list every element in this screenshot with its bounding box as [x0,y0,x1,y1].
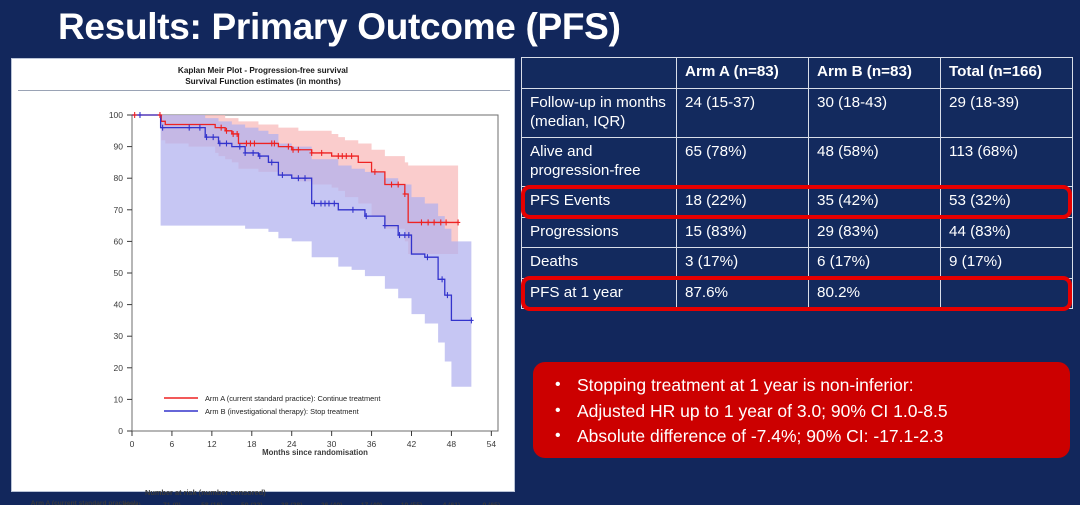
cell-0: 18 (22%) [677,187,809,218]
conclusion-callout: Stopping treatment at 1 year is non-infe… [533,362,1070,458]
y-tick-90: 90 [114,142,124,152]
y-tick-30: 30 [114,331,124,341]
y-tick-10: 10 [114,394,124,404]
cell-1: 80.2% [809,278,941,309]
x-tick-48: 48 [447,439,457,449]
y-axis-ticklabels: 0102030405060708090100 [109,110,123,436]
cell-2 [941,278,1073,309]
row-label: PFS at 1 year [522,278,677,309]
conclusion-bullet-1: Adjusted HR up to 1 year of 3.0; 90% CI … [547,399,1056,425]
y-axis [127,115,132,431]
conclusion-bullet-0: Stopping treatment at 1 year is non-infe… [547,373,1056,399]
y-tick-0: 0 [118,426,123,436]
km-plot-svg: 0102030405060708090100 06121824303642485… [12,93,516,465]
y-tick-80: 80 [114,173,124,183]
km-plot-title: Kaplan Meir Plot - Progression-free surv… [12,65,514,87]
row-label: Deaths [522,248,677,279]
table-row: Progressions15 (83%)29 (83%)44 (83%) [522,217,1073,248]
row-label: Follow-up in months (median, IQR) [522,89,677,138]
x-tick-18: 18 [247,439,257,449]
y-tick-50: 50 [114,268,124,278]
x-axis-label: Months since randomisation [262,448,368,457]
cell-2: 53 (32%) [941,187,1073,218]
table-row: PFS at 1 year87.6%80.2% [522,278,1073,309]
row-label: PFS Events [522,187,677,218]
page-title: Results: Primary Outcome (PFS) [58,6,621,48]
cell-0: 3 (17%) [677,248,809,279]
cell-1: 48 (58%) [809,138,941,187]
risk-table-title: Number at risk (number censored) [145,488,266,497]
cell-2: 44 (83%) [941,217,1073,248]
table-row: Alive and progression-free65 (78%)48 (58… [522,138,1073,187]
legend-label-arm-b: Arm B (investigational therapy): Stop tr… [205,407,359,416]
y-tick-40: 40 [114,300,124,310]
y-tick-70: 70 [114,205,124,215]
cell-0: 15 (83%) [677,217,809,248]
x-tick-12: 12 [207,439,217,449]
y-tick-20: 20 [114,363,124,373]
results-table-body: Follow-up in months (median, IQR)24 (15-… [522,89,1073,309]
cell-1: 6 (17%) [809,248,941,279]
km-title-divider [18,90,510,91]
cell-0: 87.6% [677,278,809,309]
cell-1: 35 (42%) [809,187,941,218]
results-table-col-header-0 [522,58,677,89]
results-table-col-header-3: Total (n=166) [941,58,1073,89]
cell-2: 29 (18-39) [941,89,1073,138]
slide-root: Results: Primary Outcome (PFS) Kaplan Me… [0,0,1080,505]
cell-2: 113 (68%) [941,138,1073,187]
y-tick-100: 100 [109,110,123,120]
cell-2: 9 (17%) [941,248,1073,279]
row-label: Progressions [522,217,677,248]
x-tick-36: 36 [367,439,377,449]
legend-label-arm-a: Arm A (current standard practice): Conti… [205,394,380,403]
km-plot-title-line1: Kaplan Meir Plot - Progression-free surv… [12,65,514,76]
x-tick-0: 0 [130,439,135,449]
x-tick-54: 54 [487,439,497,449]
cell-1: 30 (18-43) [809,89,941,138]
row-label: Alive and progression-free [522,138,677,187]
results-table-col-header-1: Arm A (n=83) [677,58,809,89]
x-tick-42: 42 [407,439,417,449]
y-tick-60: 60 [114,236,124,246]
km-plot-panel: Kaplan Meir Plot - Progression-free surv… [11,58,515,492]
conclusion-bullet-2: Absolute difference of -7.4%; 90% CI: -1… [547,424,1056,450]
cell-0: 24 (15-37) [677,89,809,138]
x-axis [132,431,491,436]
cell-1: 29 (83%) [809,217,941,248]
table-row: PFS Events18 (22%)35 (42%)53 (32%) [522,187,1073,218]
x-tick-6: 6 [170,439,175,449]
results-table-col-header-2: Arm B (n=83) [809,58,941,89]
results-table-wrap: Arm A (n=83)Arm B (n=83)Total (n=166) Fo… [521,57,1072,342]
conclusion-bullet-list: Stopping treatment at 1 year is non-infe… [547,373,1056,450]
table-row: Follow-up in months (median, IQR)24 (15-… [522,89,1073,138]
km-plot-subtitle: Survival Function estimates (in months) [12,76,514,87]
table-row: Deaths3 (17%)6 (17%)9 (17%) [522,248,1073,279]
cell-0: 65 (78%) [677,138,809,187]
results-table-header-row: Arm A (n=83)Arm B (n=83)Total (n=166) [522,58,1073,89]
results-table: Arm A (n=83)Arm B (n=83)Total (n=166) Fo… [521,57,1073,309]
